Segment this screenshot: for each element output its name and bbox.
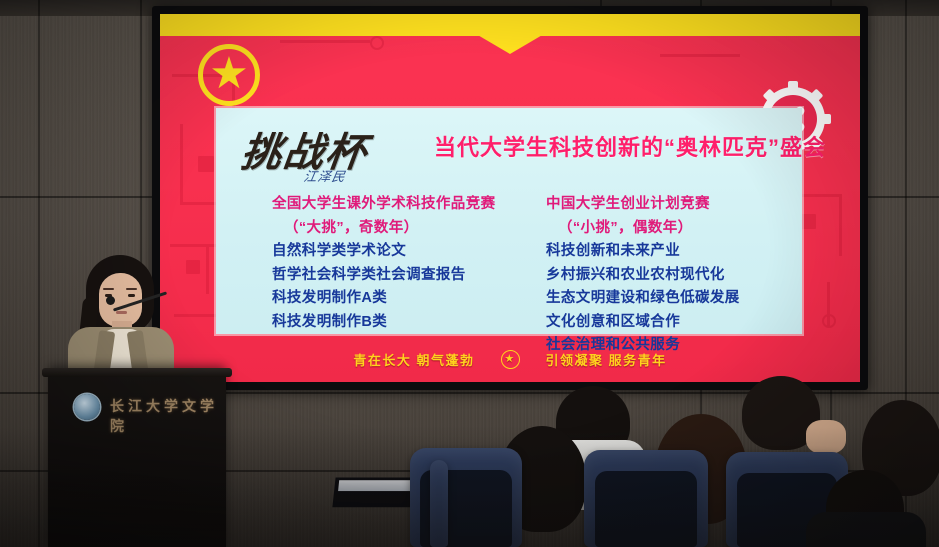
- star-icon: ★: [209, 54, 248, 94]
- slide-headline: 当代大学生科技创新的“奥林匹克”盛会: [434, 130, 826, 162]
- slogan-right: 引领凝聚 服务青年: [546, 350, 667, 369]
- slide-top-yellow-band: [160, 14, 860, 36]
- slide-list-item: （“大挑”，奇数年）: [272, 218, 528, 239]
- presenter-mouth: [116, 311, 127, 314]
- slide-list-item: 哲学社会科学类社会调查报告: [272, 265, 528, 286]
- slide-list-item: 中国大学生创业计划竞赛: [546, 194, 802, 215]
- slide-yellow-notch: [476, 34, 544, 54]
- slide-title-row: 挑战杯 江泽民 当代大学生科技创新的“奥林匹克”盛会: [238, 122, 788, 182]
- screenshot-root: ★: [0, 0, 939, 547]
- slide-list-item: 自然科学类学术论文: [272, 241, 528, 262]
- slide-list-item: 生态文明建设和绿色低碳发展: [546, 288, 802, 309]
- presenter-brow: [126, 288, 137, 290]
- slide-content-panel: 挑战杯 江泽民 当代大学生科技创新的“奥林匹克”盛会 全国大学生课外学术科技作品…: [216, 108, 802, 334]
- slide-list-item: 科技发明制作A类: [272, 288, 528, 309]
- university-crest: [74, 394, 100, 420]
- presentation-slide: ★: [160, 14, 860, 382]
- slogan-left: 青在长大 朝气蓬勃: [353, 350, 474, 369]
- slide-list-item: 乡村振兴和农业农村现代化: [546, 265, 802, 286]
- left-column: 全国大学生课外学术科技作品竞赛（“大挑”，奇数年）自然科学类学术论文哲学社会科学…: [216, 194, 528, 328]
- slide-slogan-bar: 青在长大 朝气蓬勃 ★ 引领凝聚 服务青年: [160, 344, 860, 374]
- slide-list-item: （“小挑”，偶数年）: [546, 218, 802, 239]
- projection-screen-bezel: ★: [152, 6, 868, 390]
- floor-shadow: [0, 427, 939, 547]
- slide-list-item: 全国大学生课外学术科技作品竞赛: [272, 194, 528, 215]
- youth-league-star-emblem: ★: [198, 44, 260, 106]
- slide-list-item: 科技发明制作B类: [272, 312, 528, 333]
- calligraphy-signature: 江泽民: [302, 166, 347, 185]
- presenter-eye: [128, 294, 135, 297]
- presenter-brow: [103, 288, 114, 290]
- slide-list-item: 文化创意和区域合作: [546, 312, 802, 333]
- microphone-head: [106, 296, 115, 305]
- slogan-star-icon: ★: [501, 350, 520, 369]
- right-column: 中国大学生创业计划竞赛（“小挑”，偶数年）科技创新和未来产业乡村振兴和农业农村现…: [528, 194, 802, 328]
- lectern-top-edge: [42, 368, 232, 377]
- slide-list-item: 科技创新和未来产业: [546, 241, 802, 262]
- slide-columns: 全国大学生课外学术科技作品竞赛（“大挑”，奇数年）自然科学类学术论文哲学社会科学…: [216, 194, 802, 328]
